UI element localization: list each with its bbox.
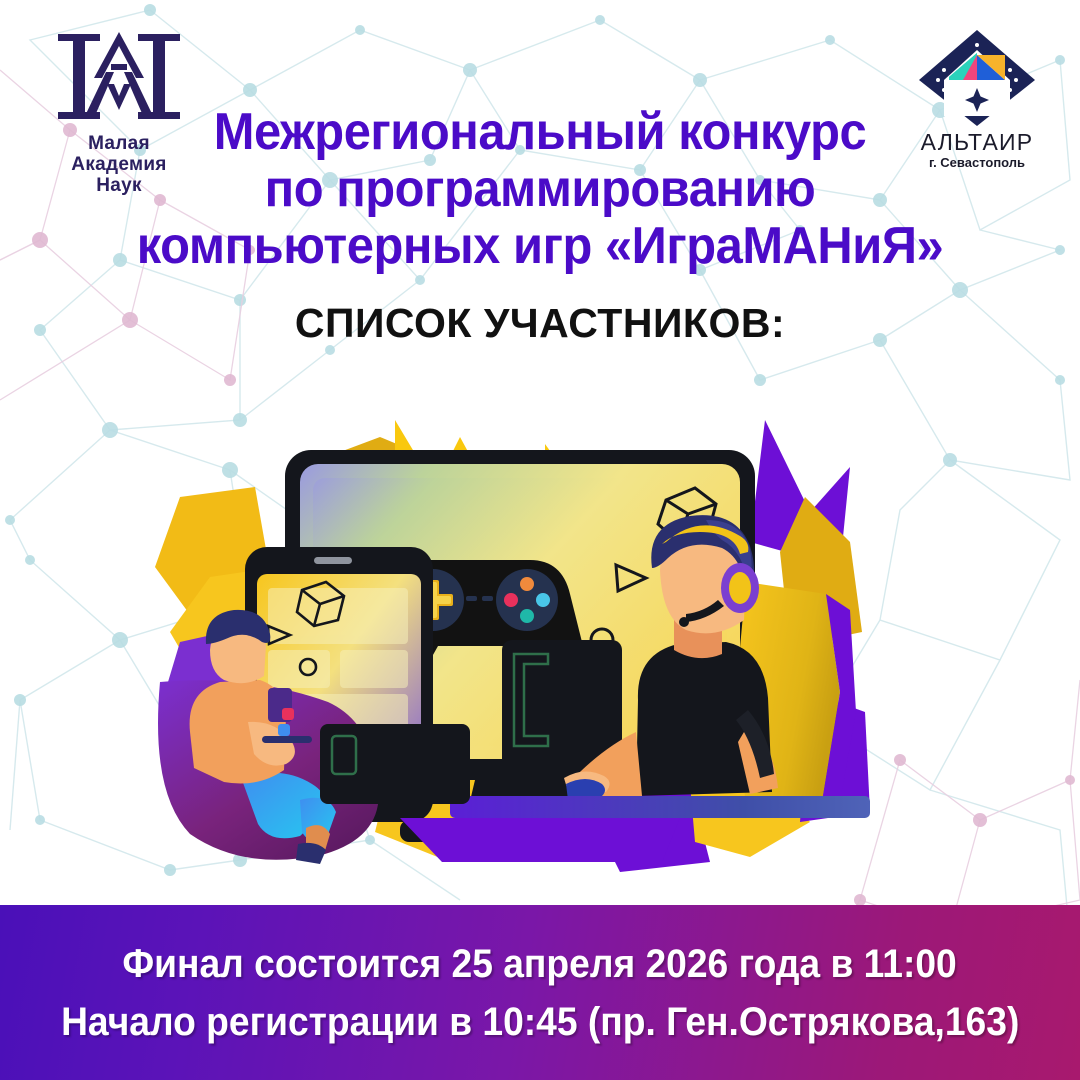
page-title: Межрегиональный конкурс по программирова… [89,104,991,275]
title-line-2: по программированию [89,161,991,218]
title-line-1: Межрегиональный конкурс [89,104,991,161]
banner-line-final: Финал состоится 25 апреля 2026 года в 11… [123,942,957,986]
secondary-monitor [320,724,470,804]
event-info-banner: Финал состоится 25 апреля 2026 года в 11… [0,905,1080,1080]
poster-root: Малая Академия Наук [0,0,1080,1080]
gaming-illustration [150,392,950,902]
subtitle-participants-list: СПИСОК УЧАСТНИКОВ: [60,300,1020,346]
title-line-3: компьютерных игр «ИграМАНиЯ» [89,218,991,275]
desk [400,796,870,862]
banner-line-registration: Начало регистрации в 10:45 (пр. Ген.Остр… [61,1000,1019,1044]
